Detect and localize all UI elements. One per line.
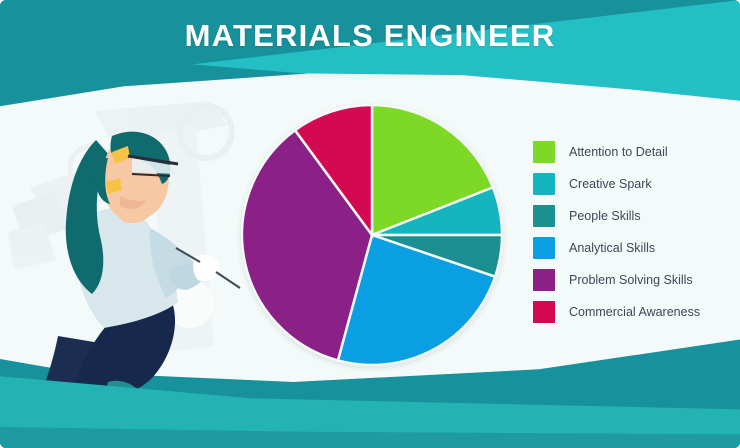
legend-item-label: Problem Solving Skills <box>569 273 693 287</box>
chart-legend: Attention to Detail Creative Spark Peopl… <box>533 136 733 328</box>
legend-swatch-icon <box>533 269 555 291</box>
legend-swatch-icon <box>533 301 555 323</box>
legend-item-attention-to-detail[interactable]: Attention to Detail <box>533 136 733 168</box>
tool-right <box>216 272 240 288</box>
legend-item-creative-spark[interactable]: Creative Spark <box>533 168 733 200</box>
legend-swatch-icon <box>533 173 555 195</box>
legend-swatch-icon <box>533 205 555 227</box>
legend-item-problem-solving-skills[interactable]: Problem Solving Skills <box>533 264 733 296</box>
legend-item-label: Commercial Awareness <box>569 305 700 319</box>
legend-item-commercial-awareness[interactable]: Commercial Awareness <box>533 296 733 328</box>
legend-item-label: People Skills <box>569 209 641 223</box>
legend-item-label: Creative Spark <box>569 177 652 191</box>
slide-root: MATERIALS ENGINEER <box>0 0 740 448</box>
pie-chart-svg <box>241 104 503 366</box>
legend-swatch-icon <box>533 141 555 163</box>
legend-item-analytical-skills[interactable]: Analytical Skills <box>533 232 733 264</box>
legend-item-label: Attention to Detail <box>569 145 668 159</box>
legend-item-people-skills[interactable]: People Skills <box>533 200 733 232</box>
legend-swatch-icon <box>533 237 555 259</box>
page-title: MATERIALS ENGINEER <box>0 18 740 54</box>
hand <box>193 255 220 282</box>
pie-chart <box>241 104 503 366</box>
legend-item-label: Analytical Skills <box>569 241 655 255</box>
engineer-illustration <box>0 96 250 416</box>
